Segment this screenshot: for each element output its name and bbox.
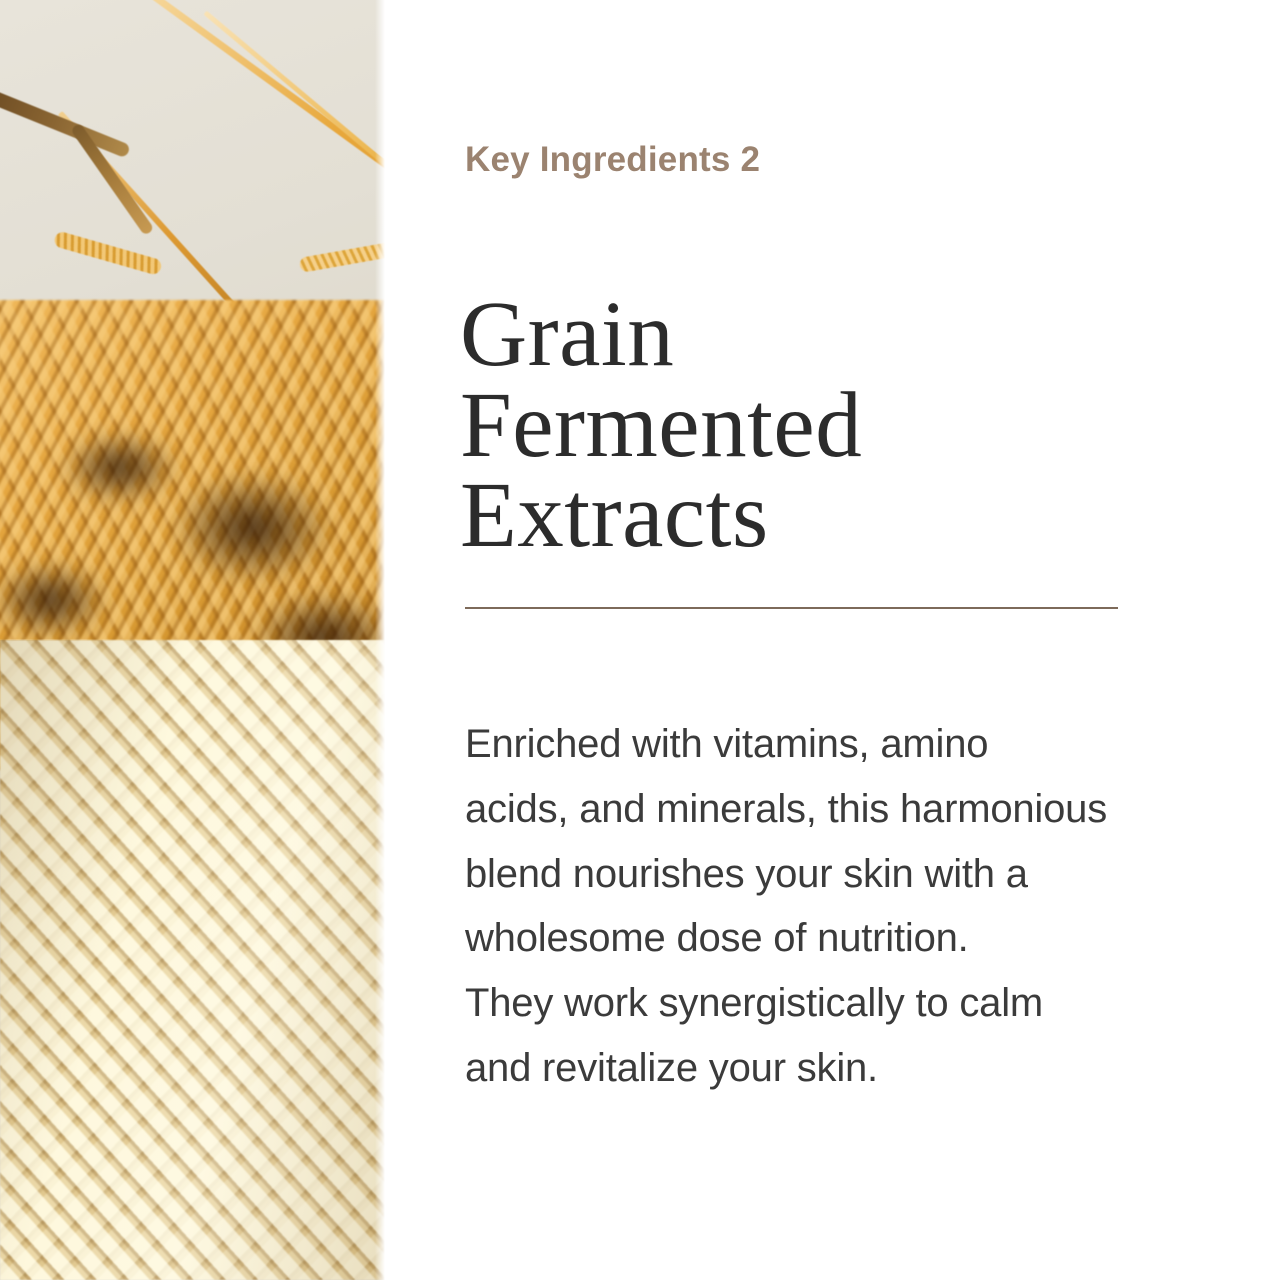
headline-line-1: Grain	[460, 290, 1180, 380]
body-line-2: acids, and minerals, this harmonious	[465, 777, 1255, 842]
photo-right-edge	[375, 0, 385, 1280]
body-line-1: Enriched with vitamins, amino	[465, 712, 1255, 777]
body-line-5: They work synergistically to calm	[465, 971, 1255, 1036]
grain-shadow	[60, 430, 180, 505]
body-line-4: wholesome dose of nutrition.	[465, 906, 1255, 971]
section-eyebrow: Key Ingredients 2	[465, 140, 760, 180]
body-line-3: blend nourishes your skin with a	[465, 842, 1255, 907]
slide-canvas: Key Ingredients 2 Grain Fermented Extrac…	[0, 0, 1280, 1280]
text-column: Key Ingredients 2 Grain Fermented Extrac…	[465, 0, 1165, 1280]
title-divider	[465, 607, 1118, 609]
grain-spill	[0, 620, 270, 950]
grain-shadow	[170, 470, 335, 585]
description-paragraph: Enriched with vitamins, amino acids, and…	[465, 712, 1255, 1101]
headline-line-2: Fermented	[460, 381, 1180, 471]
ingredient-photo	[0, 0, 385, 1280]
page-title: Grain Fermented Extracts	[460, 290, 1180, 561]
headline-line-3: Extracts	[460, 471, 1180, 561]
body-line-6: and revitalize your skin.	[465, 1036, 1255, 1101]
